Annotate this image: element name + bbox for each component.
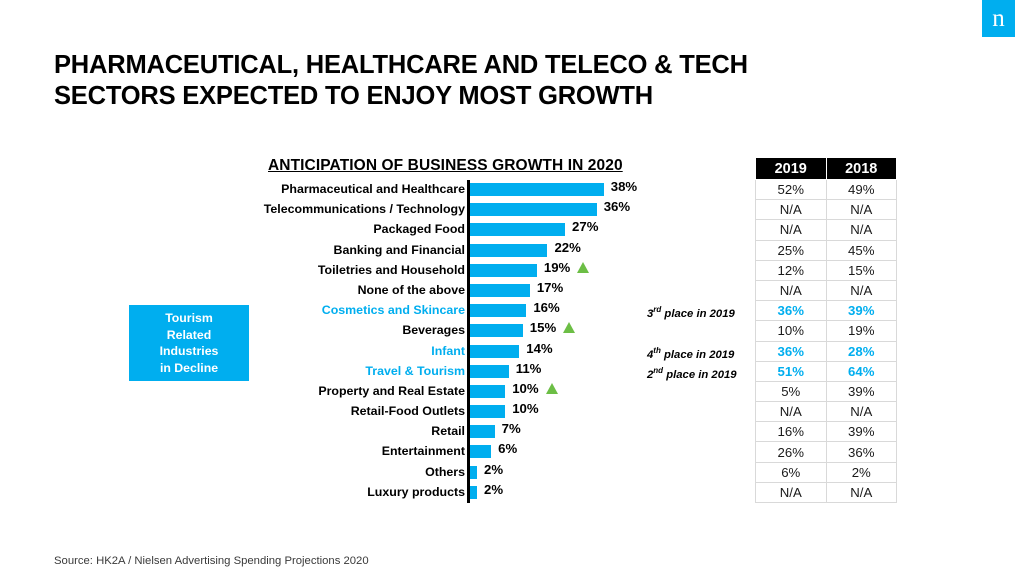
table-row: N/AN/A (756, 200, 897, 220)
chart-row: Pharmaceutical and Healthcare38% (120, 180, 760, 200)
chart-row: Retail-Food Outlets10% (120, 402, 760, 422)
growth-triangle-icon (563, 322, 575, 333)
chart-bar-container (470, 284, 530, 297)
chart-bar-container (470, 203, 597, 216)
chart-category-label: Property and Real Estate (165, 383, 465, 399)
chart-bar-container (470, 324, 523, 337)
chart-row: Telecommunications / Technology36% (120, 200, 760, 220)
comparison-table: 2019 2018 52%49%N/AN/AN/AN/A25%45%12%15%… (755, 157, 897, 503)
table-row: 16%39% (756, 422, 897, 442)
chart-category-label: Telecommunications / Technology (165, 201, 465, 217)
chart-bar-value-text: 10% (512, 401, 538, 416)
table-cell: 52% (756, 180, 827, 200)
chart-bar-value: 22% (554, 240, 580, 256)
chart-bar-value: 2% (484, 482, 503, 498)
chart-bar (470, 324, 523, 337)
chart-category-label: Retail (165, 423, 465, 439)
chart-bar-container (470, 466, 477, 479)
table-cell: 39% (826, 301, 897, 321)
table-cell: N/A (826, 280, 897, 300)
chart-bar-container (470, 425, 495, 438)
chart-bar-value-text: 27% (572, 219, 598, 234)
chart-bar-value-text: 10% (512, 381, 538, 396)
chart-rank-annotation: 4th place in 2019 (647, 343, 734, 363)
chart-bar-container (470, 304, 526, 317)
chart-bar-value: 7% (502, 421, 521, 437)
table-cell: 2% (826, 462, 897, 482)
chart-bar (470, 486, 477, 499)
chart-row: Retail7% (120, 422, 760, 442)
chart-bar (470, 385, 505, 398)
chart-bar-value: 6% (498, 441, 517, 457)
chart-bar (470, 365, 509, 378)
table-cell: N/A (756, 402, 827, 422)
table-cell: 10% (756, 321, 827, 341)
table-row: 12%15% (756, 260, 897, 280)
chart-bar-value-text: 2% (484, 462, 503, 477)
table-cell: 45% (826, 240, 897, 260)
table-cell: 5% (756, 381, 827, 401)
chart-bar-value-text: 19% (544, 260, 570, 275)
rank-ordinal-suffix: nd (653, 366, 663, 375)
tourism-decline-callout: Tourism Related Industries in Decline (129, 305, 249, 381)
chart-bar-value: 36% (604, 199, 630, 215)
chart-row: Property and Real Estate10% (120, 382, 760, 402)
table-row: N/AN/A (756, 402, 897, 422)
chart-category-label: Luxury products (165, 484, 465, 500)
chart-bar-container (470, 405, 505, 418)
chart-bar (470, 244, 547, 257)
table-cell: 15% (826, 260, 897, 280)
chart-bar-value-text: 6% (498, 441, 517, 456)
growth-triangle-icon (546, 383, 558, 394)
chart-category-label: Others (165, 464, 465, 480)
rank-ordinal-suffix: th (653, 346, 661, 355)
table-cell: 16% (756, 422, 827, 442)
callout-line2: Related (167, 327, 211, 344)
table-row: 10%19% (756, 321, 897, 341)
table-cell: 25% (756, 240, 827, 260)
chart-bar-value-text: 15% (530, 320, 556, 335)
table-cell: 28% (826, 341, 897, 361)
callout-line4: in Decline (160, 360, 218, 377)
table-cell: 12% (756, 260, 827, 280)
chart-bar-value-text: 16% (533, 300, 559, 315)
chart-category-label: Packaged Food (165, 221, 465, 237)
source-note: Source: HK2A / Nielsen Advertising Spend… (54, 555, 369, 567)
nielsen-logo: n (982, 0, 1015, 37)
table-row: N/AN/A (756, 220, 897, 240)
chart-bar (470, 445, 491, 458)
page-title-line1: PHARMACEUTICAL, HEALTHCARE AND TELECO & … (54, 51, 748, 79)
chart-row: Entertainment6% (120, 442, 760, 462)
chart-bar (470, 466, 477, 479)
chart-bar-value: 10% (512, 381, 557, 397)
table-cell: 36% (826, 442, 897, 462)
table-cell: N/A (826, 220, 897, 240)
table-cell: N/A (826, 482, 897, 502)
chart-bar-container (470, 385, 505, 398)
table-row: N/AN/A (756, 482, 897, 502)
chart-bar-value: 10% (512, 401, 538, 417)
chart-row: None of the above17% (120, 281, 760, 301)
rank-annotation-tail: place in 2019 (661, 348, 734, 360)
table-row: 5%39% (756, 381, 897, 401)
table-row: 25%45% (756, 240, 897, 260)
chart-bar-container (470, 264, 537, 277)
chart-bar-container (470, 244, 547, 257)
table-header-row: 2019 2018 (756, 158, 897, 180)
chart-bar (470, 203, 597, 216)
page-title: PHARMACEUTICAL, HEALTHCARE AND TELECO & … (54, 50, 924, 112)
table-cell: 39% (826, 422, 897, 442)
table-row: 36%39% (756, 301, 897, 321)
callout-line1: Tourism (165, 310, 213, 327)
chart-bar-value: 11% (516, 361, 542, 377)
chart-bar-value: 15% (530, 320, 575, 336)
chart-category-label: Retail-Food Outlets (165, 403, 465, 419)
table-row: 36%28% (756, 341, 897, 361)
chart-bar (470, 345, 519, 358)
chart-bar-value-text: 36% (604, 199, 630, 214)
chart-bar (470, 405, 505, 418)
table-row: 51%64% (756, 361, 897, 381)
chart-bar (470, 284, 530, 297)
chart-rank-annotation: 2nd place in 2019 (647, 363, 737, 383)
table-cell: 51% (756, 361, 827, 381)
growth-triangle-icon (577, 262, 589, 273)
table-cell: 64% (826, 361, 897, 381)
table-cell: N/A (756, 280, 827, 300)
chart-row: Others2% (120, 463, 760, 483)
chart-row: Toiletries and Household19% (120, 261, 760, 281)
chart-bar-container (470, 486, 477, 499)
rank-annotation-tail: place in 2019 (661, 308, 734, 320)
chart-bar-value-text: 22% (554, 240, 580, 255)
chart-bar-value-text: 38% (611, 179, 637, 194)
table-cell: 6% (756, 462, 827, 482)
chart-bar-value: 19% (544, 260, 589, 276)
chart-category-label: None of the above (165, 282, 465, 298)
table-row: 6%2% (756, 462, 897, 482)
table-row: 52%49% (756, 180, 897, 200)
chart-bar (470, 264, 537, 277)
table-cell: 36% (756, 301, 827, 321)
callout-line3: Industries (160, 343, 219, 360)
table-cell: 26% (756, 442, 827, 462)
table-cell: N/A (756, 482, 827, 502)
chart-bar-value: 2% (484, 462, 503, 478)
chart-bar-value-text: 7% (502, 421, 521, 436)
chart-row: Packaged Food27% (120, 220, 760, 240)
chart-heading: ANTICIPATION OF BUSINESS GROWTH IN 2020 (268, 157, 623, 175)
chart-row: Banking and Financial22% (120, 241, 760, 261)
chart-bar-value: 38% (611, 179, 637, 195)
table-cell: 39% (826, 381, 897, 401)
table-cell: N/A (826, 200, 897, 220)
chart-bar-value-text: 11% (516, 361, 542, 376)
chart-category-label: Toiletries and Household (165, 262, 465, 278)
chart-bar-value: 14% (526, 341, 552, 357)
table-header-2018: 2018 (826, 158, 897, 180)
table-row: 26%36% (756, 442, 897, 462)
chart-rank-annotation: 3rd place in 2019 (647, 302, 735, 322)
chart-bar-value: 17% (537, 280, 563, 296)
chart-category-label: Pharmaceutical and Healthcare (165, 181, 465, 197)
chart-bar (470, 223, 565, 236)
table-cell: 49% (826, 180, 897, 200)
table-body: 52%49%N/AN/AN/AN/A25%45%12%15%N/AN/A36%3… (756, 180, 897, 503)
chart-category-label: Entertainment (165, 443, 465, 459)
chart-bar (470, 425, 495, 438)
table-cell: N/A (756, 200, 827, 220)
page-title-line2: SECTORS EXPECTED TO ENJOY MOST GROWTH (54, 81, 924, 112)
table-header-2019: 2019 (756, 158, 827, 180)
table-cell: N/A (756, 220, 827, 240)
chart-bar-container (470, 445, 491, 458)
chart-bar-value: 27% (572, 219, 598, 235)
chart-bar-value: 16% (533, 300, 559, 316)
chart-bar (470, 183, 604, 196)
chart-bar-value-text: 14% (526, 341, 552, 356)
chart-bar (470, 304, 526, 317)
chart-bar-container (470, 223, 565, 236)
chart-bar-container (470, 345, 519, 358)
table-cell: N/A (826, 402, 897, 422)
rank-annotation-tail: place in 2019 (663, 368, 736, 380)
chart-row: Luxury products2% (120, 483, 760, 503)
chart-category-label: Banking and Financial (165, 242, 465, 258)
chart-bar-value-text: 2% (484, 482, 503, 497)
chart-bar-value-text: 17% (537, 280, 563, 295)
chart-bar-container (470, 365, 509, 378)
chart-bar-container (470, 183, 604, 196)
table-cell: 19% (826, 321, 897, 341)
table-row: N/AN/A (756, 280, 897, 300)
table-cell: 36% (756, 341, 827, 361)
